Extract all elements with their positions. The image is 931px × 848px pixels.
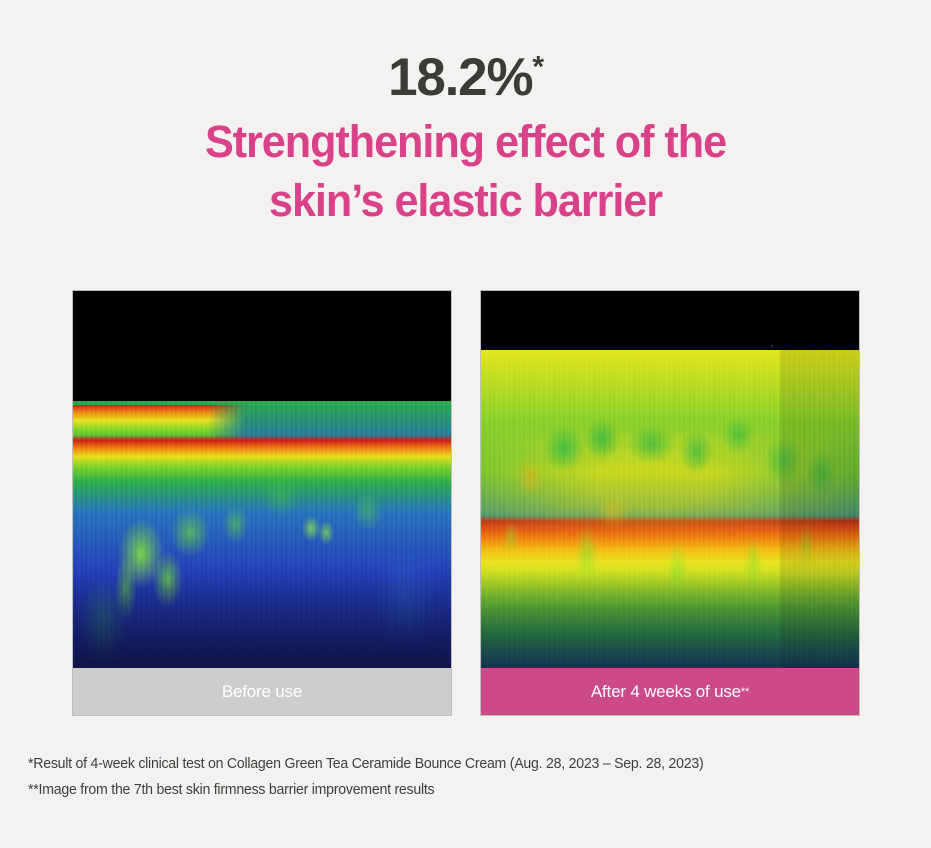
subhead-line-1: Strengthening effect of the — [19, 112, 913, 171]
after-caption-bar: After 4 weeks of use** — [481, 668, 859, 715]
headline-block: 18.2%* Strengthening effect of the skin’… — [0, 50, 931, 230]
page-title: Strengthening effect of the skin’s elast… — [19, 112, 913, 231]
before-panel: Before use — [73, 291, 451, 715]
after-panel: After 4 weeks of use** — [481, 291, 859, 715]
after-scan-image — [481, 291, 859, 715]
footnotes: *Result of 4-week clinical test on Colla… — [28, 752, 896, 804]
subhead-line-2: skin’s elastic barrier — [19, 171, 913, 230]
stat-value: 18.2% — [388, 48, 532, 107]
footnote-line-1: *Result of 4-week clinical test on Colla… — [28, 752, 896, 778]
promo-page: 18.2%* Strengthening effect of the skin’… — [0, 0, 931, 848]
stat-footnote-marker: * — [532, 50, 542, 83]
before-scan-image — [73, 291, 451, 715]
comparison-panels: Before use After 4 weeks of use** — [73, 291, 859, 715]
before-caption-bar: Before use — [73, 668, 451, 715]
after-caption-label: After 4 weeks of use — [591, 682, 741, 702]
footnote-line-2: **Image from the 7th best skin firmness … — [28, 778, 896, 804]
stat-headline: 18.2%* — [0, 50, 931, 106]
before-caption-label: Before use — [222, 682, 302, 702]
